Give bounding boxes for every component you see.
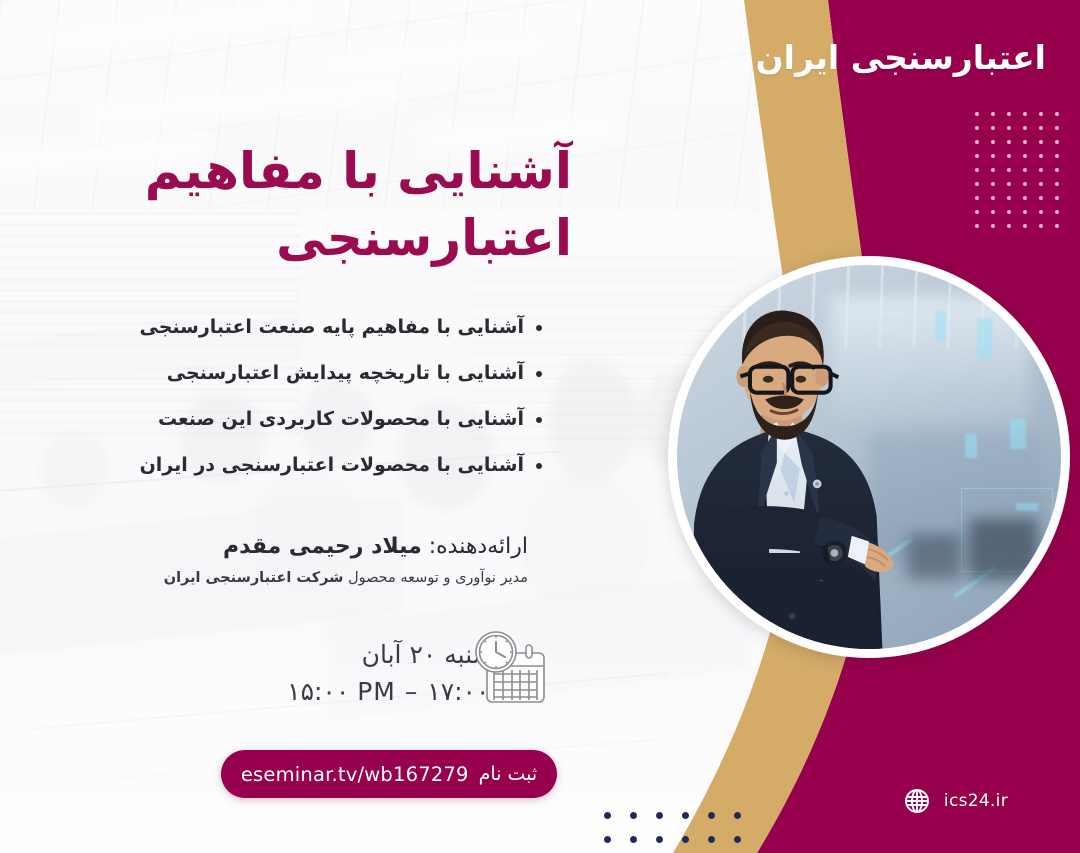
presenter-name-line: ارائه‌دهنده: میلاد رحیمی مقدم xyxy=(164,534,528,559)
dot xyxy=(1039,224,1043,228)
dot xyxy=(1039,168,1043,172)
register-url: eseminar.tv/wb167279 xyxy=(241,763,469,786)
dot xyxy=(991,154,995,158)
dot xyxy=(975,182,979,186)
title-line-2: اعتبارسنجی xyxy=(52,205,572,272)
presenter-info: ارائه‌دهنده: میلاد رحیمی مقدم مدیر نوآور… xyxy=(164,534,528,586)
presenter-company: شرکت اعتبارسنجی ایران xyxy=(164,570,344,586)
dot xyxy=(1007,196,1011,200)
dot xyxy=(1055,182,1059,186)
page-title: آشنایی با مفاهیم اعتبارسنجی xyxy=(52,138,572,271)
dot xyxy=(975,196,979,200)
topics-list: آشنایی با مفاهیم پایه صنعت اعتبارسنجی آش… xyxy=(72,318,542,502)
dot xyxy=(975,210,979,214)
list-item: آشنایی با محصولات اعتبارسنجی در ایران xyxy=(72,456,542,475)
dot xyxy=(991,196,995,200)
dot xyxy=(1039,112,1043,116)
dot xyxy=(1007,154,1011,158)
dot xyxy=(975,154,979,158)
dot xyxy=(682,836,689,843)
list-item: آشنایی با تاریخچه پیدایش اعتبارسنجی xyxy=(72,364,542,383)
decorative-dot-grid-bottom xyxy=(585,812,741,853)
dot xyxy=(1023,140,1027,144)
dot xyxy=(1039,210,1043,214)
dot xyxy=(1039,154,1043,158)
list-item: آشنایی با مفاهیم پایه صنعت اعتبارسنجی xyxy=(72,318,542,337)
dot xyxy=(1023,224,1027,228)
dot xyxy=(708,836,715,843)
dot xyxy=(975,126,979,130)
dot xyxy=(630,812,637,819)
calendar-clock-icon xyxy=(466,626,552,712)
dot xyxy=(991,182,995,186)
dot xyxy=(1007,112,1011,116)
dot xyxy=(1055,154,1059,158)
dot xyxy=(1039,196,1043,200)
dot xyxy=(1007,140,1011,144)
register-button[interactable]: ثبت نام eseminar.tv/wb167279 xyxy=(221,750,557,798)
dot xyxy=(991,126,995,130)
website-label: ics24.ir xyxy=(944,791,1008,811)
globe-icon xyxy=(903,787,931,815)
dot xyxy=(1039,182,1043,186)
dot xyxy=(1055,196,1059,200)
dot xyxy=(1055,140,1059,144)
dot xyxy=(991,224,995,228)
dot xyxy=(1023,210,1027,214)
dot xyxy=(1055,112,1059,116)
presenter-portrait xyxy=(668,256,1070,658)
dot xyxy=(1007,126,1011,130)
dot xyxy=(1039,126,1043,130)
dot xyxy=(975,140,979,144)
dot xyxy=(1007,168,1011,172)
dot xyxy=(975,224,979,228)
register-label: ثبت نام xyxy=(479,763,538,785)
dot xyxy=(630,836,637,843)
dot xyxy=(1007,210,1011,214)
dot xyxy=(1055,224,1059,228)
dot xyxy=(708,812,715,819)
dot xyxy=(1055,210,1059,214)
presenter-role: مدیر نوآوری و توسعه محصول xyxy=(348,570,528,586)
dot xyxy=(1039,140,1043,144)
dot xyxy=(991,140,995,144)
presenter-name: میلاد رحیمی مقدم xyxy=(223,534,422,559)
dot xyxy=(604,812,611,819)
website-badge[interactable]: ics24.ir xyxy=(903,787,1008,815)
dot xyxy=(991,168,995,172)
webinar-poster: اعتبارسنجی ایران xyxy=(0,0,1080,853)
dot xyxy=(975,168,979,172)
dot xyxy=(1007,182,1011,186)
presenter-figure xyxy=(677,265,1061,649)
dot xyxy=(1023,154,1027,158)
dot xyxy=(656,812,663,819)
dot xyxy=(1023,182,1027,186)
brand-logo: اعتبارسنجی ایران xyxy=(756,38,1046,77)
dot xyxy=(1007,224,1011,228)
dot xyxy=(1023,196,1027,200)
dot xyxy=(1023,126,1027,130)
dot xyxy=(1023,112,1027,116)
title-line-1: آشنایی با مفاهیم xyxy=(145,142,572,200)
dot xyxy=(975,112,979,116)
presenter-label: ارائه‌دهنده: xyxy=(429,534,528,559)
dot xyxy=(991,112,995,116)
dot xyxy=(656,836,663,843)
dot xyxy=(682,812,689,819)
list-item: آشنایی با محصولات کاربردی این صنعت xyxy=(72,410,542,429)
dot xyxy=(1023,168,1027,172)
dot xyxy=(734,836,741,843)
presenter-role-line: مدیر نوآوری و توسعه محصول شرکت اعتبارسنج… xyxy=(164,570,528,586)
dot xyxy=(1055,168,1059,172)
dot xyxy=(734,812,741,819)
decorative-dot-grid-top xyxy=(963,112,1059,238)
dot xyxy=(604,836,611,843)
dot xyxy=(991,210,995,214)
dot xyxy=(1055,126,1059,130)
